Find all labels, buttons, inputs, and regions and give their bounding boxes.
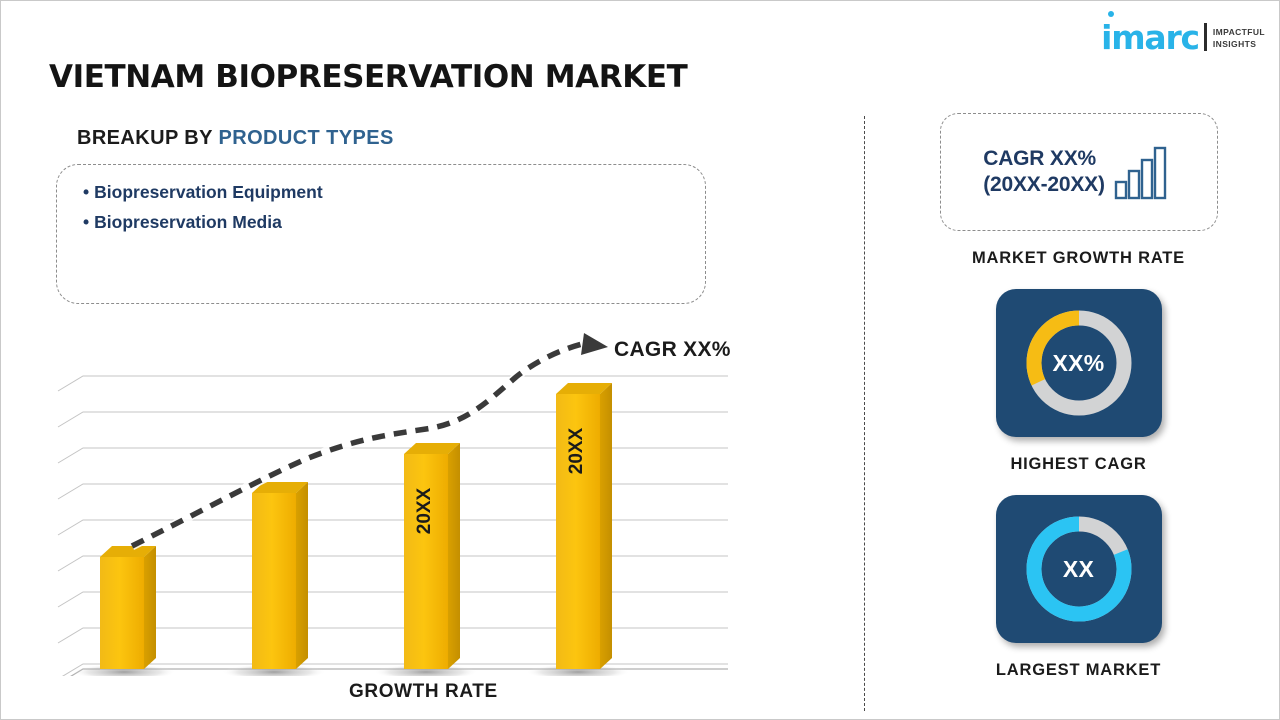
bar-shadows [72,664,630,676]
highest-cagr-tile: XX% [996,289,1162,437]
growth-rate-chart: 20XX 20XX CAGR XX% GROWTH RATE [56,331,756,711]
market-growth-rate-caption: MARKET GROWTH RATE [906,249,1251,268]
breakup-accent: PRODUCT TYPES [218,127,393,149]
breakup-heading: BREAKUP BY PRODUCT TYPES [77,127,394,150]
highest-cagr-value: XX% [996,350,1162,377]
list-item: •Biopreservation Equipment [83,177,679,207]
imarc-logo: imarc IMPACTFUL INSIGHTS [1101,13,1265,53]
bar-4: 20XX [556,383,612,669]
largest-market-value: XX [996,556,1162,583]
cagr-line-2: (20XX-20XX) [983,172,1105,198]
list-item-label: Biopreservation Media [94,212,282,232]
bar-4-label: 20XX [566,427,587,474]
list-item: •Biopreservation Media [83,207,679,237]
chart-cagr-annotation: CAGR XX% [614,338,731,362]
bullet-icon: • [83,182,89,202]
logo-tagline: IMPACTFUL INSIGHTS [1213,27,1265,50]
bullet-icon: • [83,212,89,232]
market-growth-rate-value: CAGR XX% (20XX-20XX) [983,146,1105,197]
bar-chart-icon [1114,142,1174,202]
breakup-prefix: BREAKUP BY [77,127,218,149]
highest-cagr-block: XX% HIGHEST CAGR [906,289,1251,474]
trend-arrowhead [581,333,608,355]
bar-3-label: 20XX [414,487,435,534]
trend-line [132,333,608,546]
logo-wordmark: imarc [1101,22,1199,53]
chart-axis-label: GROWTH RATE [349,681,498,703]
logo-tagline-line2: INSIGHTS [1213,39,1265,50]
largest-market-tile: XX [996,495,1162,643]
market-growth-rate-card: CAGR XX% (20XX-20XX) [940,113,1218,231]
logo-dot-icon [1108,11,1114,17]
metrics-column: CAGR XX% (20XX-20XX) MARKET GROWTH RATE [906,113,1251,680]
logo-divider [1204,23,1207,51]
bar-3: 20XX [404,443,460,669]
logo-tagline-line1: IMPACTFUL [1213,27,1265,38]
vertical-divider [864,116,865,711]
chart-svg: 20XX 20XX [56,331,756,676]
logo-word-text: imarc [1101,18,1199,57]
cagr-line-1: CAGR XX% [983,146,1105,172]
highest-cagr-caption: HIGHEST CAGR [906,455,1251,474]
page-title: VIETNAM BIOPRESERVATION MARKET [49,59,687,95]
infographic-page: imarc IMPACTFUL INSIGHTS VIETNAM BIOPRES… [0,0,1280,720]
product-types-box: •Biopreservation Equipment •Biopreservat… [56,164,706,304]
largest-market-caption: LARGEST MARKET [906,661,1251,680]
bar-2 [252,482,308,669]
largest-market-block: XX LARGEST MARKET [906,495,1251,680]
chart-gridlines [58,376,728,676]
list-item-label: Biopreservation Equipment [94,182,323,202]
bar-1 [100,546,156,669]
